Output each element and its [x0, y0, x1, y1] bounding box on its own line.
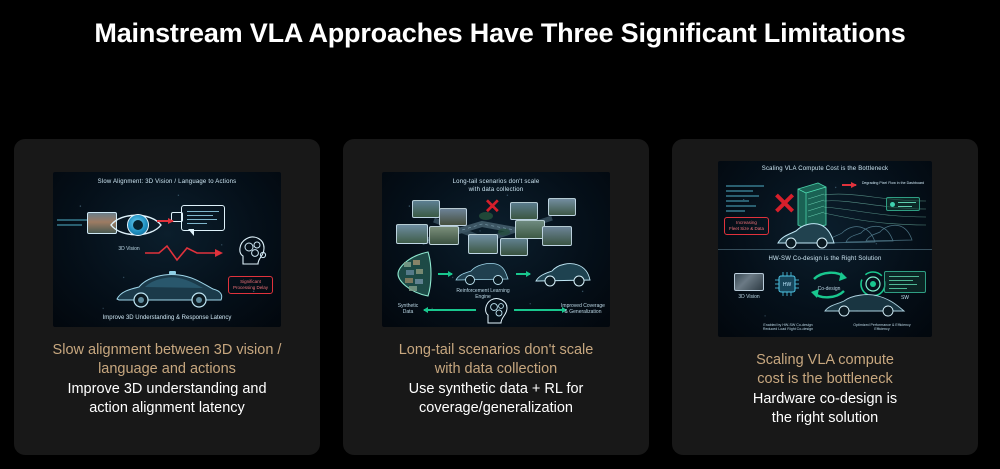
caption-subtext-line-1: Hardware co-design is — [684, 390, 966, 409]
caption-subtext-line-2: action alignment latency — [26, 399, 308, 418]
scene-thumbnail — [412, 200, 440, 218]
speech-bubble-tail — [188, 229, 194, 236]
figure-top-title: Scaling VLA Compute Cost is the Bottlene… — [718, 166, 932, 172]
synthetic-data-funnel-icon — [392, 250, 436, 298]
footer-right-line-2: Efficiency — [840, 327, 924, 332]
caption-subtext-line-2: coverage/generalization — [355, 399, 637, 418]
caption-headline: Scaling VLA compute cost is the bottlene… — [684, 351, 966, 389]
footer-left-line-2: Reduced Load Right Co-design — [750, 327, 826, 332]
vehicle-illustration-engine — [454, 258, 510, 288]
figure-title: Slow Alignment: 3D Vision / Language to … — [53, 179, 281, 185]
card-caption: Long-tail scenarios don't scale with dat… — [343, 341, 649, 418]
caption-headline-line-2: with data collection — [355, 360, 637, 379]
vehicle-illustration — [113, 267, 225, 311]
eye-icon — [109, 210, 163, 240]
presentation-slide: Mainstream VLA Approaches Have Three Sig… — [0, 0, 1000, 469]
caption-subtext: Use synthetic data + RL for coverage/gen… — [355, 380, 637, 418]
scene-thumbnail — [510, 202, 538, 220]
scene-thumbnail — [548, 198, 576, 216]
vehicle-fleet-illustration — [774, 215, 924, 249]
card-caption: Scaling VLA compute cost is the bottlene… — [672, 351, 978, 428]
scene-thumbnail — [468, 234, 498, 254]
limitation-card-long-tail[interactable]: Long-tail scenarios don't scale with dat… — [343, 139, 649, 455]
caption-headline-line-1: Long-tail scenarios don't scale — [355, 341, 637, 360]
speech-bubble-icon — [181, 205, 225, 231]
arrow-engine-to-result-icon — [516, 273, 530, 275]
limitation-cards-row: Slow Alignment: 3D Vision / Language to … — [14, 139, 978, 455]
caption-subtext-line-1: Use synthetic data + RL for — [355, 380, 637, 399]
figure-footer-left: Enabled by HW-SW Co-design Reduced Load … — [750, 323, 826, 332]
figure-title-line-2: with data collection — [382, 186, 610, 194]
figure-label-annotation: Degrading Pixel Flow in the Dashboard — [858, 180, 928, 186]
increasing-fleet-size-badge: Increasing Fleet Size & Data — [724, 217, 769, 235]
vehicle-illustration-improved — [534, 258, 592, 290]
figure-title-line-1: Long-tail scenarios don't scale — [382, 178, 610, 186]
data-bars-icon — [726, 185, 764, 215]
label-line-2: Data — [388, 309, 428, 315]
figure-label-3d-vision: 3D Vision — [730, 294, 768, 300]
red-x-icon: ✕ — [484, 194, 501, 219]
caption-headline-line-1: Slow alignment between 3D vision / — [26, 341, 308, 360]
data-bars-icon — [57, 219, 89, 229]
significant-processing-delay-badge: Significant Processing Delay — [228, 276, 273, 294]
caption-headline-line-1: Scaling VLA compute — [684, 351, 966, 370]
status-dot-icon — [890, 202, 895, 207]
brain-gears-head-icon — [483, 296, 509, 324]
arrow-to-synthetic-data-icon — [424, 309, 476, 311]
caption-headline: Long-tail scenarios don't scale with dat… — [355, 341, 637, 379]
caption-subtext: Improve 3D understanding and action alig… — [26, 380, 308, 418]
caption-headline-line-2: cost is the bottleneck — [684, 370, 966, 389]
figure-label-synthetic-data: Synthetic Data — [388, 303, 428, 315]
arrow-annotation-icon — [842, 184, 856, 186]
caption-headline-line-2: language and actions — [26, 360, 308, 379]
status-chip-box — [886, 197, 920, 211]
arrow-funnel-to-engine-icon — [438, 273, 452, 275]
badge-line-2: Processing Delay — [233, 285, 268, 291]
figure-compute-cost: Scaling VLA Compute Cost is the Bottlene… — [718, 161, 932, 337]
eye-pupil — [133, 220, 143, 230]
badge-line-2: Fleet Size & Data — [729, 226, 764, 232]
limitation-card-compute-cost[interactable]: Scaling VLA Compute Cost is the Bottlene… — [672, 139, 978, 455]
card-caption: Slow alignment between 3D vision / langu… — [14, 341, 320, 418]
figure-title: Long-tail scenarios don't scale with dat… — [382, 178, 610, 194]
page-title: Mainstream VLA Approaches Have Three Sig… — [0, 18, 1000, 49]
vehicle-illustration — [822, 289, 908, 319]
panel-divider — [718, 249, 932, 250]
brain-gears-head-icon — [237, 234, 267, 266]
scene-thumbnail — [396, 224, 428, 244]
vision-thumbnail — [734, 273, 764, 291]
label-line-2: & Generalization — [558, 309, 608, 315]
figure-footer: Improve 3D Understanding & Response Late… — [53, 315, 281, 321]
limitation-card-slow-alignment[interactable]: Slow Alignment: 3D Vision / Language to … — [14, 139, 320, 455]
figure-label-improved-coverage: Improved Coverage & Generalization — [558, 303, 608, 315]
arrow-vision-to-language-icon — [157, 220, 173, 222]
scene-thumbnail — [515, 220, 545, 239]
svg-text:HW: HW — [783, 282, 792, 288]
caption-subtext-line-1: Improve 3D understanding and — [26, 380, 308, 399]
scene-thumbnail — [500, 238, 528, 256]
hw-chip-icon: HW — [774, 271, 800, 297]
figure-long-tail: Long-tail scenarios don't scale with dat… — [382, 172, 610, 327]
latency-zigzag-arrow-icon — [145, 244, 223, 262]
caption-subtext-line-2: the right solution — [684, 409, 966, 428]
figure-footer-right: Optimized Performance & Efficiency Effic… — [840, 323, 924, 332]
figure-slow-alignment: Slow Alignment: 3D Vision / Language to … — [53, 172, 281, 327]
scene-thumbnail — [439, 208, 467, 226]
figure-bottom-title: HW-SW Co-design is the Right Solution — [718, 256, 932, 262]
caption-subtext: Hardware co-design is the right solution — [684, 390, 966, 428]
scene-thumbnail — [542, 226, 572, 246]
caption-headline: Slow alignment between 3D vision / langu… — [26, 341, 308, 379]
scene-thumbnail — [429, 226, 459, 245]
